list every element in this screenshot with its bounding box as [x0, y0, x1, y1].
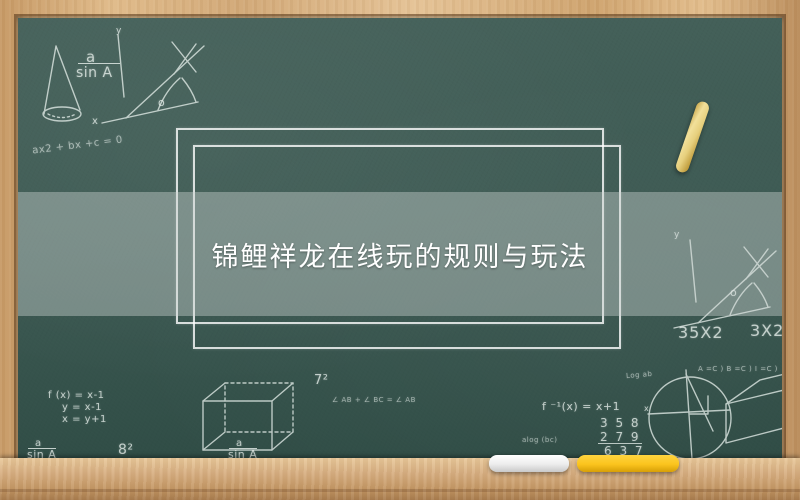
chalk-set-notation: A =C ) B =C ) I =C ) — [698, 365, 778, 373]
chalk-fx-line3: x = y+1 — [62, 414, 107, 425]
chalk-product-3x2: 3X2 — [750, 321, 782, 340]
chalk-alog-label: alog (bc) — [522, 436, 557, 444]
chalk-ledge — [0, 458, 800, 500]
screenshot-root: a sin A y x o ax2 + bx +c = 0 f (x) = x-… — [0, 0, 800, 500]
page-title: 锦鲤祥龙在线玩的规则与玩法 — [18, 192, 782, 316]
chalk-eight-squared: 8² — [118, 442, 134, 458]
chalk-angle-sum: ∠ AB + ∠ BC = ∠ AB — [332, 396, 416, 404]
yellow-chalk-piece — [577, 455, 679, 472]
chalk-product-35x2: 35X2 — [678, 323, 724, 342]
chalk-exponent-seven: 7² — [314, 373, 328, 388]
ledge-lip — [0, 489, 800, 492]
white-chalk-piece — [489, 455, 569, 472]
chalk-fx-line1: f (x) = x-1 — [48, 390, 105, 401]
chalk-sum-row-2: 2 7 9 — [600, 430, 641, 444]
chalk-fx-line2: y = x-1 — [62, 402, 102, 413]
chalk-right-axis-x: x — [644, 404, 649, 413]
chalk-angle-label: o — [158, 96, 165, 109]
chalk-axis-y-label: y — [116, 26, 122, 36]
chalk-frac-bar — [78, 63, 120, 64]
chalk-frac-denominator: sin A — [76, 65, 113, 81]
chalk-sum-row-1: 3 5 8 — [600, 416, 641, 430]
chalk-inverse-function: f ⁻¹(x) = x+1 — [542, 400, 620, 413]
chalkboard: a sin A y x o ax2 + bx +c = 0 f (x) = x-… — [18, 18, 782, 460]
chalk-axis-x-label: x — [92, 116, 98, 127]
